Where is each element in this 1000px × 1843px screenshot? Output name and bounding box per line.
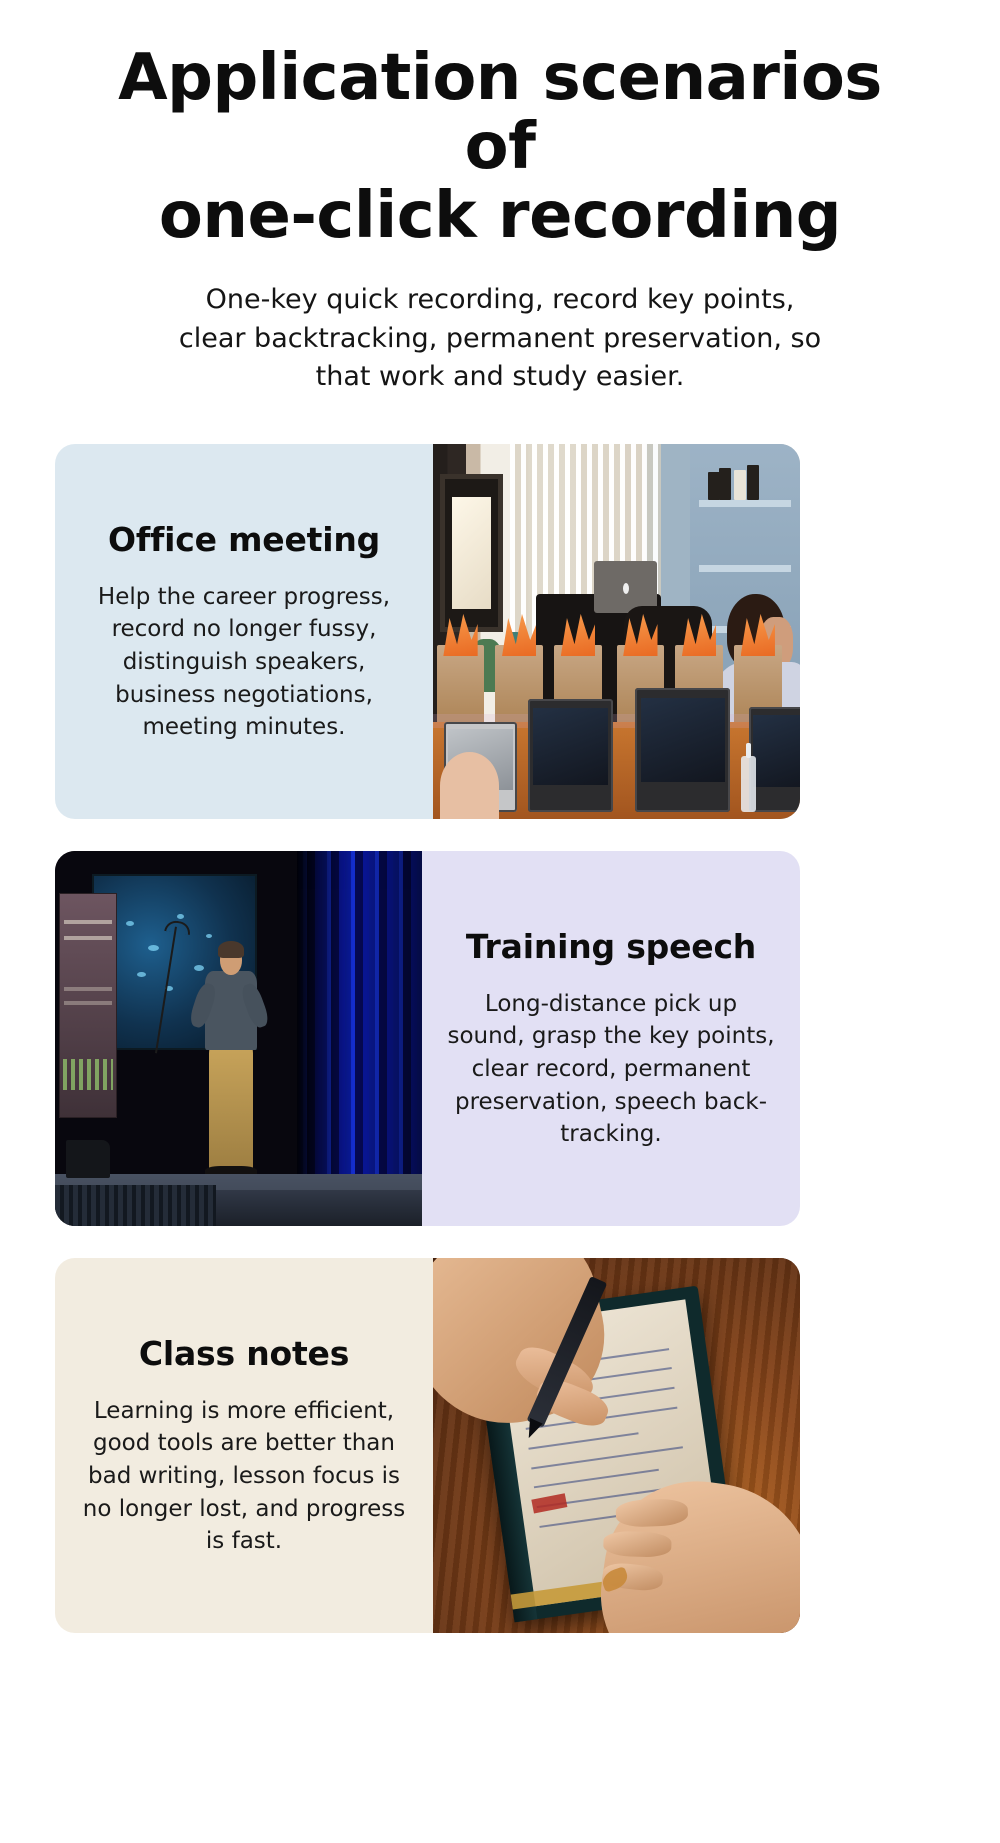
page-subtitle-line-3: that work and study easier. xyxy=(316,361,685,392)
card-body-office-meeting: Help the career progress, record no long… xyxy=(79,581,409,744)
laptop-black-2 xyxy=(635,688,730,812)
card-title-training-speech: Training speech xyxy=(466,927,756,966)
page-subtitle: One-key quick recording, record key poin… xyxy=(0,281,1000,396)
red-highlight-mark xyxy=(531,1492,567,1512)
training-speech-photo xyxy=(55,851,422,1226)
card-text-panel: Class notes Learning is more efficient, … xyxy=(55,1258,433,1633)
laptop-black-3 xyxy=(749,707,800,812)
card-title-class-notes: Class notes xyxy=(139,1334,349,1373)
wall-picture-frame xyxy=(440,474,502,632)
page-subtitle-line-1: One-key quick recording, record key poin… xyxy=(206,284,795,315)
laptop-black-1 xyxy=(528,699,612,812)
scenario-card-list: Office meeting Help the career progress,… xyxy=(0,444,1000,1633)
stage-skirt xyxy=(55,1185,216,1226)
scenario-card-training-speech[interactable]: Training speech Long-distance pick up so… xyxy=(55,851,800,1226)
roll-up-banner xyxy=(59,893,118,1118)
card-body-class-notes: Learning is more efficient, good tools a… xyxy=(79,1395,409,1558)
office-meeting-photo xyxy=(433,444,800,819)
speaker-hair xyxy=(218,941,244,958)
scenario-card-office-meeting[interactable]: Office meeting Help the career progress,… xyxy=(55,444,800,819)
card-body-training-speech: Long-distance pick up sound, grasp the k… xyxy=(446,988,776,1151)
page-subtitle-line-2: clear backtracking, permanent preservati… xyxy=(179,323,821,354)
page-title: Application scenarios of one-click recor… xyxy=(0,44,1000,251)
class-notes-photo xyxy=(433,1258,800,1633)
page-header: Application scenarios of one-click recor… xyxy=(0,0,1000,396)
card-title-office-meeting: Office meeting xyxy=(108,520,380,559)
page-title-line-2: one-click recording xyxy=(159,179,841,253)
stage-monitor-speaker xyxy=(66,1140,110,1178)
attendee-arm xyxy=(440,752,499,820)
water-bottle xyxy=(741,756,756,812)
speaker-trousers xyxy=(209,1046,253,1170)
card-text-panel: Office meeting Help the career progress,… xyxy=(55,444,433,819)
page-title-line-1: Application scenarios of xyxy=(118,41,882,184)
card-text-panel: Training speech Long-distance pick up so… xyxy=(422,851,800,1226)
blue-stage-curtain xyxy=(297,851,422,1226)
scenario-card-class-notes[interactable]: Class notes Learning is more efficient, … xyxy=(55,1258,800,1633)
